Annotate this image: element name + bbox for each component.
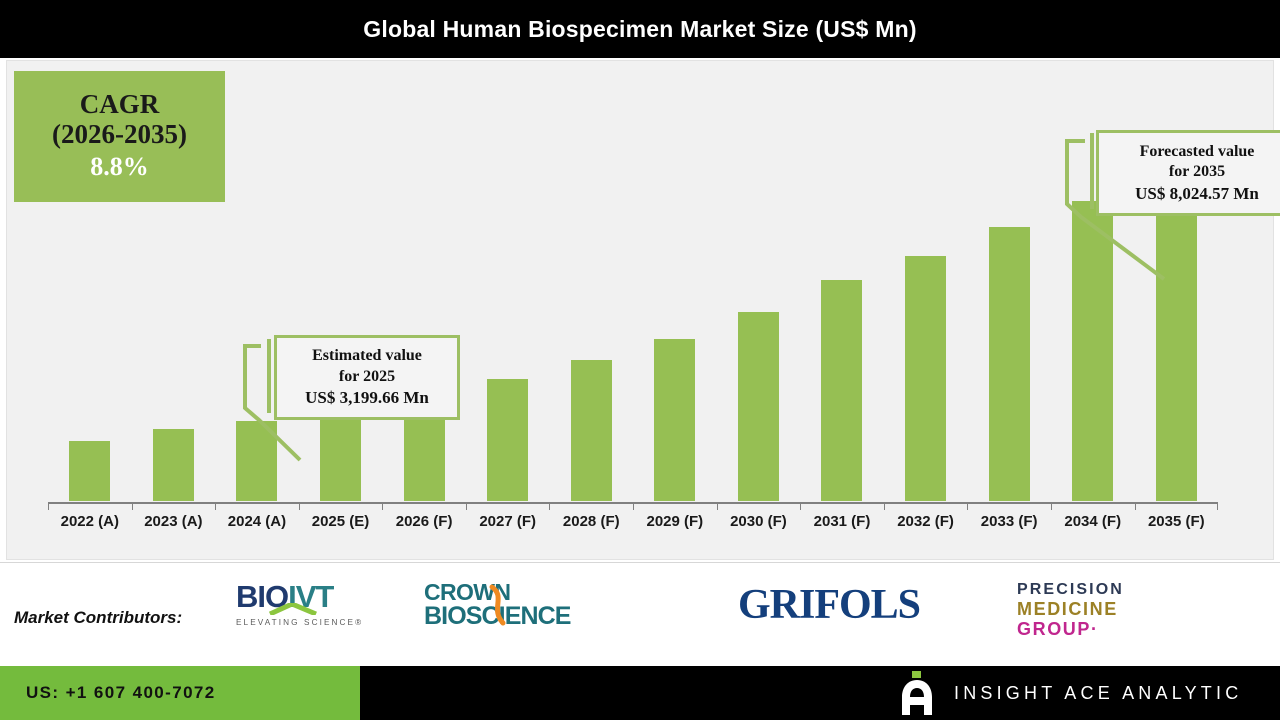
x-axis-tick-label: 2023 (A) — [132, 513, 216, 543]
plot-area — [48, 61, 1218, 501]
bar — [69, 441, 110, 501]
pmg-line1: PRECISION — [1017, 581, 1192, 599]
bar-slot — [1135, 59, 1219, 501]
brand-lockup: INSIGHT ACE ANALYTIC — [898, 666, 1242, 720]
x-axis-tick-label: 2024 (A) — [215, 513, 299, 543]
x-axis-tick — [215, 502, 299, 510]
x-axis-tick — [382, 502, 466, 510]
x-axis-tick-label: 2030 (F) — [717, 513, 801, 543]
bar-slot — [967, 59, 1051, 501]
bar — [487, 379, 528, 501]
logo-grifols: GRIFOLS — [738, 582, 938, 630]
x-axis-tick-label: 2032 (F) — [884, 513, 968, 543]
bar — [989, 227, 1030, 501]
pmg-line3: GROUP· — [1017, 619, 1192, 639]
bar — [821, 280, 862, 501]
logo-bioivt: BIOIVT ELEVATING SCIENCE® — [236, 581, 366, 631]
bar-slot — [132, 59, 216, 501]
x-axis-tick-label: 2025 (E) — [299, 513, 383, 543]
x-axis-tick-label: 2031 (F) — [800, 513, 884, 543]
bar — [738, 312, 779, 501]
x-axis-tick-label: 2026 (F) — [382, 513, 466, 543]
bar-slot — [884, 59, 968, 501]
callout-estimated-2025: Estimated value for 2025 US$ 3,199.66 Mn — [274, 335, 460, 420]
callout-forecasted-line2: for 2035 — [1169, 162, 1225, 182]
bar-slot — [382, 59, 466, 501]
infographic-root: Global Human Biospecimen Market Size (US… — [0, 0, 1280, 720]
bar — [1072, 201, 1113, 501]
phone-number: US: +1 607 400-7072 — [26, 683, 216, 703]
bar-slot — [299, 59, 383, 501]
x-axis-tick-label: 2027 (F) — [466, 513, 550, 543]
bar-slot — [633, 59, 717, 501]
x-axis-tick-label: 2035 (F) — [1135, 513, 1219, 543]
x-axis-tick-label: 2034 (F) — [1051, 513, 1135, 543]
x-axis-tick-label: 2029 (F) — [633, 513, 717, 543]
insight-ace-logo-icon — [898, 671, 936, 715]
callout-forecasted-value: US$ 8,024.57 Mn — [1135, 183, 1259, 205]
bar-slot — [466, 59, 550, 501]
phone-band: US: +1 607 400-7072 — [0, 666, 360, 720]
callout-forecasted-2035: Forecasted value for 2035 US$ 8,024.57 M… — [1096, 130, 1280, 216]
x-axis-tick — [132, 502, 216, 510]
x-axis-tick — [884, 502, 968, 510]
callout-estimated-line2: for 2025 — [339, 367, 395, 387]
page-title: Global Human Biospecimen Market Size (US… — [363, 16, 916, 43]
bar — [571, 360, 612, 501]
contributors-strip: Market Contributors: BIOIVT ELEVATING SC… — [0, 562, 1280, 666]
x-axis-tick — [549, 502, 633, 510]
x-axis-tick — [1051, 502, 1135, 510]
pmg-line2: MEDICINE — [1017, 599, 1192, 619]
x-axis-tick — [717, 502, 801, 510]
bioivt-ivt-text: IVT — [288, 579, 333, 614]
bioivt-tagline: ELEVATING SCIENCE® — [236, 618, 366, 627]
x-axis-tick — [299, 502, 383, 510]
bar-slot — [215, 59, 299, 501]
bar — [236, 421, 277, 501]
bar-slot — [800, 59, 884, 501]
bar — [153, 429, 194, 501]
x-axis-tick-label: 2028 (F) — [549, 513, 633, 543]
x-axis-tick-label: 2033 (F) — [967, 513, 1051, 543]
x-axis-ticks — [48, 502, 1218, 510]
crown-helix-icon — [486, 583, 512, 633]
logo-a-glyph-icon — [898, 671, 936, 715]
logo-crown-bioscience: CROWN BIOSCIENCE — [424, 581, 609, 633]
callout-estimated-line1: Estimated value — [312, 346, 422, 366]
x-axis-tick — [1135, 502, 1219, 510]
contributors-label: Market Contributors: — [14, 608, 182, 628]
x-axis-tick-label: 2022 (A) — [48, 513, 132, 543]
logo-precision-medicine-group: PRECISION MEDICINE GROUP· — [1017, 581, 1192, 635]
title-bar: Global Human Biospecimen Market Size (US… — [0, 0, 1280, 58]
x-axis-tick — [633, 502, 717, 510]
bar — [320, 409, 361, 501]
x-axis-tick — [466, 502, 550, 510]
brand-name: INSIGHT ACE ANALYTIC — [954, 683, 1242, 704]
x-axis-tick — [967, 502, 1051, 510]
crown-line1: CROWN — [424, 581, 609, 604]
bar-slot — [717, 59, 801, 501]
bar-series — [48, 59, 1218, 501]
callout-estimated-value: US$ 3,199.66 Mn — [305, 387, 429, 409]
callout-forecasted-line1: Forecasted value — [1140, 142, 1255, 162]
bar — [654, 339, 695, 501]
x-axis-tick — [48, 502, 132, 510]
bar-slot — [1051, 59, 1135, 501]
chart-panel: CAGR (2026-2035) 8.8% 2022 (A)2023 (A)20… — [6, 60, 1274, 560]
bar-slot — [549, 59, 633, 501]
bar-slot — [48, 59, 132, 501]
footer-bar: US: +1 607 400-7072 INSIGHT ACE ANALYTIC — [0, 666, 1280, 720]
bar — [905, 256, 946, 501]
x-axis-labels: 2022 (A)2023 (A)2024 (A)2025 (E)2026 (F)… — [48, 513, 1218, 543]
crown-line2: BIOSCIENCE — [424, 604, 609, 630]
x-axis-tick — [800, 502, 884, 510]
